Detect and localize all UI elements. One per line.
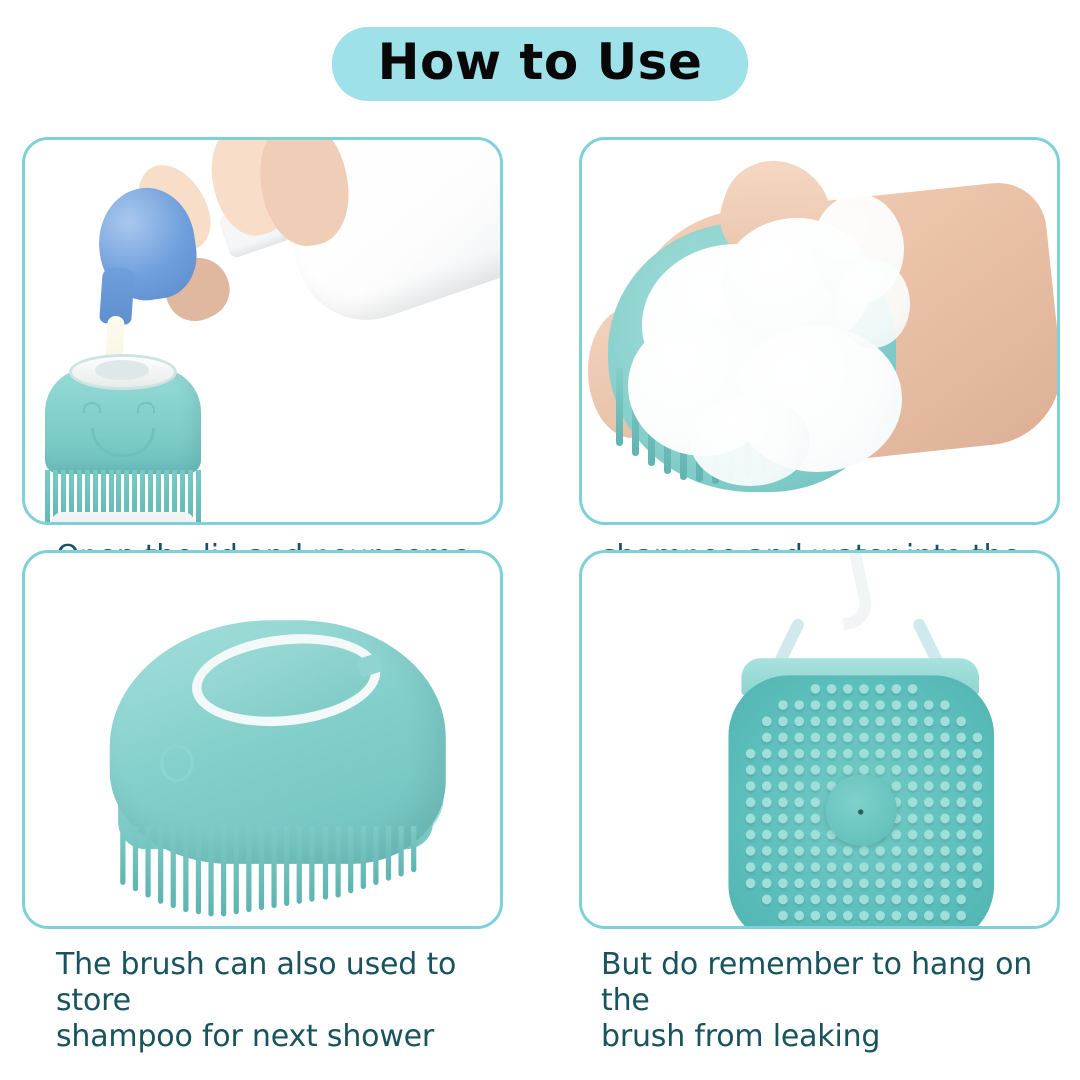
- brush-nub-icon: [827, 927, 837, 929]
- brush-nub-icon: [859, 927, 869, 929]
- brush-nub-icon: [924, 862, 934, 872]
- brush-nub-icon: [924, 765, 934, 775]
- brush-nub-icon: [827, 895, 837, 905]
- brush-bristle-pad-icon: [728, 675, 994, 929]
- brush-nub-icon: [843, 765, 853, 775]
- brush-nub-icon: [956, 781, 966, 791]
- brush-nub-icon: [794, 814, 804, 824]
- brush-nub-icon: [762, 830, 772, 840]
- brush-nub-icon: [811, 749, 821, 759]
- brush-nub-icon: [908, 814, 918, 824]
- step-3-illustration: [55, 566, 503, 929]
- brush-nub-icon: [843, 878, 853, 888]
- brush-nub-icon: [892, 749, 902, 759]
- brush-nub-icon: [746, 814, 756, 824]
- brush-nub-icon: [908, 846, 918, 856]
- brush-nub-icon: [908, 830, 918, 840]
- brush-nub-icon: [892, 927, 902, 929]
- brush-nub-icon: [843, 716, 853, 726]
- page-header: How to Use: [0, 27, 1080, 101]
- brush-nub-icon: [956, 749, 966, 759]
- step-2-caption-slot: shampoo and water into the brush: [579, 525, 1060, 550]
- brush-nub-icon: [811, 814, 821, 824]
- brush-nub-icon: [956, 814, 966, 824]
- brush-nub-icon: [973, 878, 983, 888]
- brush-nub-icon: [875, 733, 885, 743]
- brush-nub-icon: [794, 797, 804, 807]
- brush-nub-icon: [746, 765, 756, 775]
- step-3-caption: The brush can also used to store shampoo…: [22, 929, 503, 1055]
- brush-nub-icon: [892, 895, 902, 905]
- brush-nub-icon: [843, 862, 853, 872]
- brush-nub-icon: [794, 749, 804, 759]
- brush-nub-icon: [956, 765, 966, 775]
- brush-nub-icon: [827, 684, 837, 694]
- foam-icon: [690, 396, 810, 486]
- brush-nub-icon: [762, 797, 772, 807]
- brush-nub-icon: [778, 878, 788, 888]
- brush-nub-icon: [908, 911, 918, 921]
- step-4-image-card: [579, 550, 1060, 929]
- brush-nub-icon: [827, 716, 837, 726]
- brush-nub-icon: [875, 765, 885, 775]
- page-title: How to Use: [378, 34, 703, 90]
- brush-nub-icon: [859, 846, 869, 856]
- brush-nub-icon: [940, 749, 950, 759]
- brush-nub-icon: [956, 716, 966, 726]
- brush-base-icon: [51, 512, 195, 525]
- brush-lid-opening-icon: [95, 360, 149, 380]
- brush-nub-icon: [811, 716, 821, 726]
- step-4-illustration: [601, 550, 1060, 929]
- brush-nub-icon: [762, 846, 772, 856]
- step-1-caption-slot: Open the lid and pour some: [22, 525, 503, 550]
- brush-nub-icon: [811, 797, 821, 807]
- brush-nub-icon: [924, 797, 934, 807]
- brush-nub-icon: [762, 862, 772, 872]
- brush-face-eye-icon: [137, 402, 155, 413]
- brush-nub-icon: [762, 814, 772, 824]
- brush-nub-icon: [875, 749, 885, 759]
- brush-nub-icon: [794, 716, 804, 726]
- brush-nub-icon: [892, 862, 902, 872]
- brush-nub-icon: [762, 878, 772, 888]
- brush-nub-icon: [924, 895, 934, 905]
- brush-nub-icon: [908, 765, 918, 775]
- brush-nub-icon: [908, 749, 918, 759]
- brush-nub-icon: [778, 797, 788, 807]
- brush-nub-icon: [827, 700, 837, 710]
- brush-nub-icon: [924, 846, 934, 856]
- brush-nub-icon: [794, 878, 804, 888]
- brush-nub-icon: [940, 814, 950, 824]
- brush-nub-icon: [956, 846, 966, 856]
- brush-nub-icon: [746, 830, 756, 840]
- brush-nub-icon: [827, 878, 837, 888]
- brush-nub-icon: [762, 716, 772, 726]
- brush-nub-icon: [778, 895, 788, 905]
- brush-nub-icon: [940, 895, 950, 905]
- brush-nub-icon: [778, 830, 788, 840]
- brush-nub-icon: [778, 733, 788, 743]
- brush-nub-icon: [746, 797, 756, 807]
- brush-nub-icon: [956, 895, 966, 905]
- brush-nub-icon: [746, 781, 756, 791]
- brush-nub-icon: [973, 733, 983, 743]
- brush-nub-icon: [875, 911, 885, 921]
- brush-nub-icon: [924, 927, 934, 929]
- brush-nub-icon: [892, 765, 902, 775]
- step-4-caption-slot: But do remember to hang on the brush fro…: [579, 929, 1060, 1067]
- foam-icon: [836, 260, 910, 348]
- brush-nub-icon: [859, 700, 869, 710]
- brush-nub-icon: [956, 878, 966, 888]
- brush-nub-icon: [859, 765, 869, 775]
- brush-nub-icon: [859, 895, 869, 905]
- brush-nub-icon: [811, 846, 821, 856]
- brush-nub-icon: [875, 700, 885, 710]
- brush-nub-icon: [892, 846, 902, 856]
- page-title-pill: How to Use: [332, 27, 749, 101]
- brush-nub-icon: [762, 733, 772, 743]
- brush-nub-icon: [859, 684, 869, 694]
- brush-nub-icon: [778, 862, 788, 872]
- brush-nub-icon: [924, 700, 934, 710]
- brush-nub-icon: [973, 797, 983, 807]
- step-3-image-card: [22, 550, 503, 929]
- brush-nub-icon: [940, 765, 950, 775]
- brush-nub-icon: [940, 911, 950, 921]
- brush-nub-icon: [794, 765, 804, 775]
- brush-nub-icon: [973, 846, 983, 856]
- brush-nub-icon: [892, 716, 902, 726]
- brush-nub-icon: [794, 830, 804, 840]
- brush-nub-icon: [794, 781, 804, 791]
- brush-nub-icon: [762, 895, 772, 905]
- brush-nub-icon: [956, 733, 966, 743]
- brush-nub-icon: [956, 797, 966, 807]
- brush-nub-icon: [892, 830, 902, 840]
- brush-nub-icon: [827, 765, 837, 775]
- brush-nub-icon: [924, 878, 934, 888]
- brush-nub-icon: [762, 749, 772, 759]
- brush-nub-icon: [973, 862, 983, 872]
- brush-nub-icon: [892, 911, 902, 921]
- brush-nub-icon: [778, 814, 788, 824]
- brush-nub-icon: [892, 700, 902, 710]
- step-4-caption: But do remember to hang on the brush fro…: [579, 929, 1060, 1055]
- brush-nub-icon: [908, 781, 918, 791]
- brush-nub-icon: [746, 862, 756, 872]
- brush-nub-icon: [940, 797, 950, 807]
- brush-nub-icon: [859, 716, 869, 726]
- brush-nub-icon: [875, 878, 885, 888]
- brush-nub-icon: [908, 862, 918, 872]
- brush-nub-icon: [924, 911, 934, 921]
- brush-nub-icon: [794, 911, 804, 921]
- brush-nub-icon: [908, 927, 918, 929]
- brush-nub-icon: [892, 684, 902, 694]
- brush-nub-icon: [908, 733, 918, 743]
- brush-nub-icon: [811, 684, 821, 694]
- brush-face-eye-icon: [83, 402, 101, 413]
- brush-bristles-icon: [120, 826, 416, 921]
- brush-nub-icon: [892, 733, 902, 743]
- brush-nub-icon: [811, 781, 821, 791]
- brush-nub-icon: [794, 927, 804, 929]
- brush-nub-icon: [908, 716, 918, 726]
- brush-nub-icon: [875, 716, 885, 726]
- brush-nub-icon: [778, 846, 788, 856]
- brush-nub-icon: [811, 878, 821, 888]
- brush-nub-icon: [908, 797, 918, 807]
- brush-nub-icon: [940, 878, 950, 888]
- brush-nub-icon: [940, 781, 950, 791]
- brush-nub-icon: [762, 781, 772, 791]
- brush-nub-icon: [973, 830, 983, 840]
- brush-nub-icon: [746, 846, 756, 856]
- brush-nub-icon: [827, 846, 837, 856]
- brush-nub-icon: [956, 911, 966, 921]
- brush-nub-icon: [940, 716, 950, 726]
- brush-nub-icon: [827, 733, 837, 743]
- brush-nub-icon: [778, 716, 788, 726]
- brush-nub-icon: [811, 895, 821, 905]
- brush-nub-icon: [973, 814, 983, 824]
- brush-nub-icon: [924, 814, 934, 824]
- brush-nub-icon: [778, 749, 788, 759]
- brush-nub-icon: [827, 862, 837, 872]
- brush-nub-icon: [924, 733, 934, 743]
- brush-nub-icon: [940, 733, 950, 743]
- brush-nub-icon: [778, 765, 788, 775]
- brush-nub-icon: [859, 733, 869, 743]
- brush-nub-icon: [875, 846, 885, 856]
- brush-nub-icon: [811, 862, 821, 872]
- brush-nub-icon: [940, 862, 950, 872]
- brush-nub-icon: [778, 781, 788, 791]
- step-2-image-card: [579, 137, 1060, 525]
- brush-nub-icon: [843, 733, 853, 743]
- brush-nub-icon: [924, 830, 934, 840]
- brush-nub-icon: [794, 733, 804, 743]
- brush-nub-icon: [875, 927, 885, 929]
- brush-nub-icon: [956, 830, 966, 840]
- brush-nub-icon: [794, 846, 804, 856]
- brush-nub-icon: [940, 830, 950, 840]
- brush-nub-icon: [778, 700, 788, 710]
- brush-nub-icon: [778, 911, 788, 921]
- brush-nub-icon: [973, 749, 983, 759]
- brush-nub-icon: [924, 781, 934, 791]
- brush-nub-icon: [762, 765, 772, 775]
- brush-nub-icon: [875, 684, 885, 694]
- brush-nub-icon: [843, 927, 853, 929]
- brush-nub-icon: [875, 862, 885, 872]
- brush-nub-icon: [908, 700, 918, 710]
- brush-nub-icon: [892, 878, 902, 888]
- wall-hook-icon: [829, 552, 876, 631]
- brush-nub-icon: [746, 878, 756, 888]
- brush-nub-icon: [843, 846, 853, 856]
- brush-nub-icon: [811, 911, 821, 921]
- brush-nub-icon: [875, 895, 885, 905]
- brush-vent-dot-icon: [160, 744, 194, 782]
- brush-nub-icon: [811, 927, 821, 929]
- brush-nub-icon: [794, 700, 804, 710]
- brush-nub-icon: [973, 765, 983, 775]
- brush-nub-icon: [859, 911, 869, 921]
- brush-nub-icon: [859, 878, 869, 888]
- brush-nub-icon: [940, 700, 950, 710]
- brush-nub-icon: [827, 749, 837, 759]
- brush-nub-icon: [843, 749, 853, 759]
- brush-center-hole-icon: [858, 809, 863, 814]
- brush-nub-icon: [973, 781, 983, 791]
- brush-nub-icon: [940, 846, 950, 856]
- brush-nub-icon: [827, 911, 837, 921]
- brush-nub-icon: [892, 781, 902, 791]
- step-1-image-card: [22, 137, 503, 525]
- brush-nub-icon: [924, 716, 934, 726]
- brush-nub-icon: [843, 911, 853, 921]
- brush-nub-icon: [859, 749, 869, 759]
- brush-nub-icon: [811, 700, 821, 710]
- brush-nub-icon: [843, 684, 853, 694]
- step-3-caption-slot: The brush can also used to store shampoo…: [22, 929, 503, 1067]
- brush-nub-icon: [794, 862, 804, 872]
- brush-nub-icon: [956, 862, 966, 872]
- brush-nub-icon: [794, 895, 804, 905]
- brush-nub-icon: [908, 684, 918, 694]
- brush-nub-icon: [811, 733, 821, 743]
- brush-nub-icon: [924, 749, 934, 759]
- brush-nub-icon: [908, 895, 918, 905]
- step-1-illustration: [25, 140, 500, 522]
- brush-nub-icon: [859, 862, 869, 872]
- brush-nub-icon: [908, 878, 918, 888]
- how-to-use-steps-grid: Open the lid and pour some: [22, 137, 1060, 1067]
- brush-nub-icon: [746, 749, 756, 759]
- brush-nub-icon: [811, 765, 821, 775]
- brush-nub-icon: [843, 700, 853, 710]
- brush-nub-icon: [811, 830, 821, 840]
- brush-nub-icon: [843, 895, 853, 905]
- step-2-illustration: [582, 140, 1057, 522]
